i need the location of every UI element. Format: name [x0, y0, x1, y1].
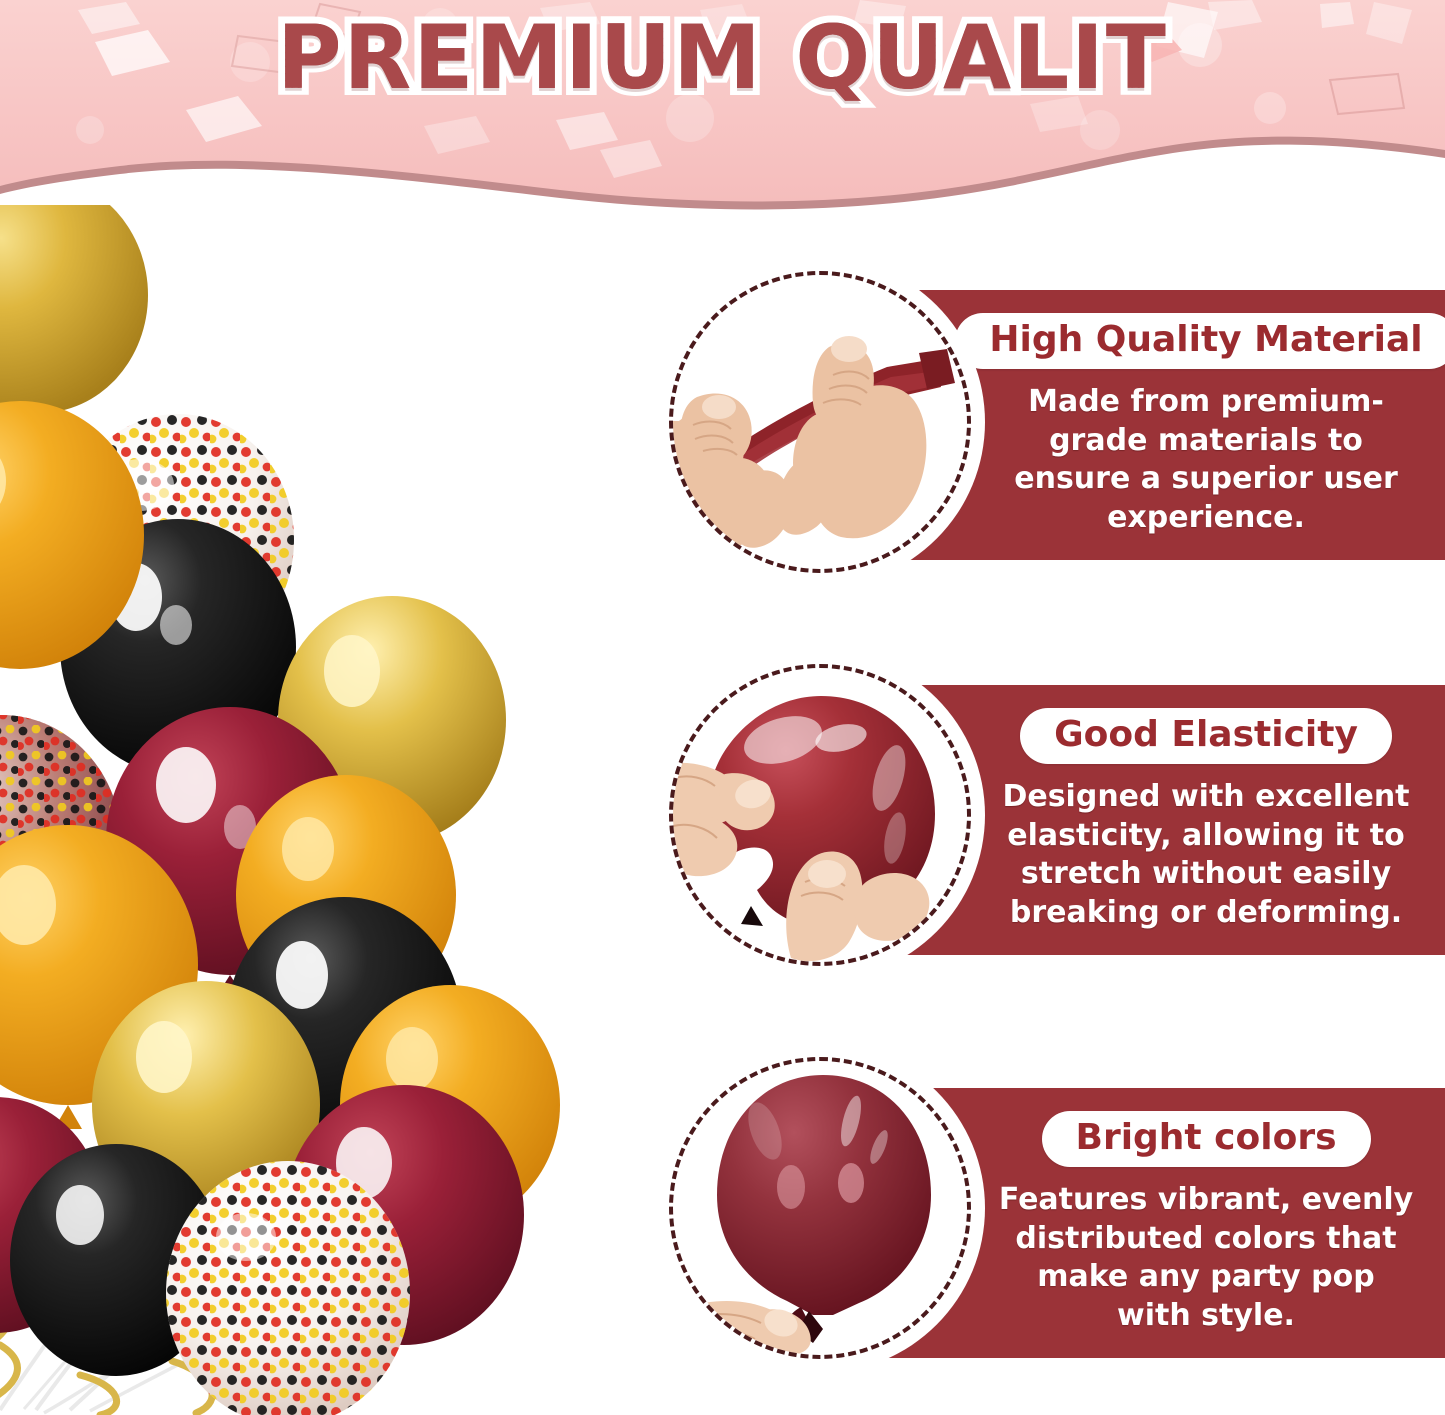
feature-row: High Quality Material Made from premium-… — [655, 252, 1445, 597]
feature-photo — [655, 257, 985, 587]
feature-description: Made from premium-grade materials to ens… — [996, 383, 1416, 537]
feature-photo — [655, 1043, 985, 1373]
feature-badge: Bright colors — [1042, 1111, 1371, 1167]
balloon — [166, 1161, 410, 1415]
feature-row: Good Elasticity Designed with excellent … — [655, 645, 1445, 990]
feature-photo — [655, 650, 985, 980]
hands-squeezing-balloon-photo — [673, 668, 967, 962]
feature-description: Designed with excellent elasticity, allo… — [996, 778, 1416, 932]
feature-badge: Good Elasticity — [1020, 708, 1392, 764]
page-title-glitter: PREMIUM QUALIT — [0, 6, 1445, 109]
header-banner: PREMIUM QUALIT PREMIUM QUALIT — [0, 0, 1445, 215]
feature-description: Features vibrant, evenly distributed col… — [996, 1181, 1416, 1335]
balloon-bouquet-photo — [0, 205, 560, 1415]
hands-stretching-balloon-photo — [673, 275, 967, 569]
feature-row: Bright colors Features vibrant, evenly d… — [655, 1038, 1445, 1398]
balloon — [0, 205, 148, 435]
feature-badge: High Quality Material — [955, 313, 1445, 369]
hand-holding-balloon-photo — [673, 1061, 967, 1355]
